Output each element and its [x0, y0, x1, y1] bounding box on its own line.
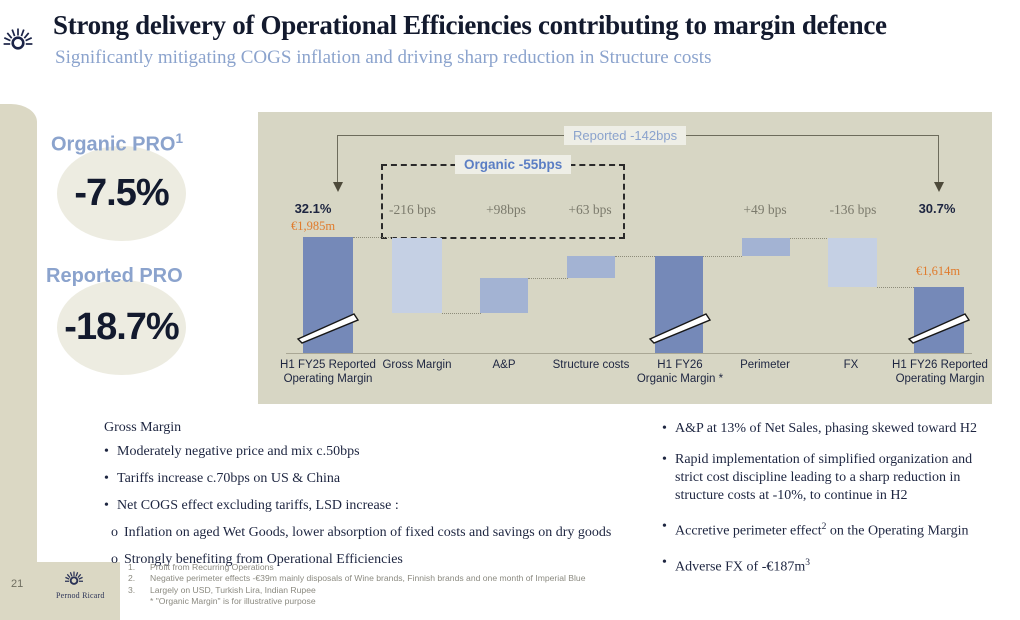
- footnote-number: 1.: [128, 562, 150, 573]
- bullet-left-item: oInflation on aged Wet Goods, lower abso…: [104, 524, 634, 542]
- footnote-text: Profit from Recurring Operations: [150, 562, 274, 573]
- bar-h1-fy26-organic: [655, 256, 703, 353]
- bar-h1-fy25-reported: [303, 237, 353, 353]
- connector-5: [703, 256, 742, 257]
- bullet-text: Net COGS effect excluding tariffs, LSD i…: [117, 497, 399, 515]
- bullet-marker: •: [104, 470, 117, 488]
- footnote-text: Largely on USD, Turkish Lira, Indian Rup…: [150, 585, 316, 596]
- value-label-h1fy25: 32.1%: [278, 201, 348, 216]
- footnote-number: [128, 596, 150, 607]
- bullet-marker: o: [111, 524, 124, 542]
- bar-perimeter: [742, 238, 790, 256]
- bullet-left-item: •Tariffs increase c.70bps on US & China: [104, 470, 634, 488]
- footnote-text: Negative perimeter effects -€39m mainly …: [150, 573, 585, 584]
- bullet-right-item: •Rapid implementation of simplified orga…: [662, 451, 1002, 505]
- page-subtitle: Significantly mitigating COGS inflation …: [55, 47, 955, 69]
- footnote-text: * "Organic Margin" is for illustrative p…: [150, 596, 316, 607]
- bar-h1-fy26-reported: [914, 287, 964, 353]
- connector-3: [528, 278, 568, 279]
- bullet-text: Accretive perimeter effect2 on the Opera…: [675, 518, 968, 541]
- reported-bracket-right-arrow-icon: [933, 182, 945, 194]
- value-label-perimeter: +49 bps: [729, 201, 801, 218]
- bullet-marker: •: [662, 451, 675, 505]
- category-label-gross-margin: Gross Margin: [367, 358, 467, 372]
- kpi-reported-value: -18.7%: [64, 306, 178, 349]
- page-title: Strong delivery of Operational Efficienc…: [53, 10, 953, 41]
- value-label-gross-margin: -216 bps: [389, 201, 445, 218]
- bullet-text: Moderately negative price and mix c.50bp…: [117, 443, 360, 461]
- bullet-marker: •: [662, 420, 675, 438]
- reported-bracket-left-arrow-icon: [332, 182, 344, 194]
- footnote-row: 2.Negative perimeter effects -€39m mainl…: [128, 573, 768, 584]
- amount-label-start: €1,985m: [278, 219, 348, 234]
- bar-anp: [480, 278, 528, 313]
- bullet-left-item: •Net COGS effect excluding tariffs, LSD …: [104, 497, 634, 515]
- footnote-number: 2.: [128, 573, 150, 584]
- footer-brand-name: Pernod Ricard: [56, 591, 105, 600]
- chart-baseline-axis: [286, 353, 972, 354]
- bullet-text: A&P at 13% of Net Sales, phasing skewed …: [675, 420, 977, 438]
- footnote-row: 1.Profit from Recurring Operations: [128, 562, 768, 573]
- bullet-right-item: •A&P at 13% of Net Sales, phasing skewed…: [662, 420, 1002, 438]
- footnote-row: 3.Largely on USD, Turkish Lira, Indian R…: [128, 585, 768, 596]
- value-label-fx: -136 bps: [815, 201, 891, 218]
- bullet-marker: •: [104, 443, 117, 461]
- pernod-ricard-sunburst-icon: [2, 26, 34, 58]
- organic-bracket-label: Organic -55bps: [455, 155, 571, 174]
- bullets-left-heading: Gross Margin: [104, 420, 634, 436]
- connector-7: [877, 287, 916, 288]
- bar-gross-margin: [392, 238, 442, 313]
- connector-6: [790, 238, 829, 239]
- reported-bracket-right-stem: [938, 135, 939, 188]
- left-accent-band: [0, 104, 37, 620]
- kpi-organic-label: Organic PRO1: [51, 131, 183, 157]
- waterfall-chart-panel: Reported -142bps Organic -55bps 32.1% €1…: [258, 112, 992, 404]
- amount-label-end: €1,614m: [903, 264, 973, 279]
- bar-structure-costs: [567, 256, 615, 278]
- page-number: 21: [11, 578, 23, 590]
- category-label-h1-fy26-organic: H1 FY26 Organic Margin *: [628, 358, 732, 386]
- kpi-reported-circle: -18.7%: [57, 280, 186, 375]
- value-label-h1fy26-reported: 30.7%: [906, 201, 968, 216]
- category-label-h1-fy26-reported: H1 FY26 Reported Operating Margin: [878, 358, 1002, 386]
- connector-2: [442, 313, 481, 314]
- bullet-text: Tariffs increase c.70bps on US & China: [117, 470, 340, 488]
- reported-bracket-left-stem: [337, 135, 338, 188]
- reported-bracket-label: Reported -142bps: [564, 126, 686, 145]
- bullet-text: Rapid implementation of simplified organ…: [675, 451, 1002, 505]
- bullet-marker: •: [662, 518, 675, 541]
- category-label-anp: A&P: [466, 358, 542, 372]
- category-label-fx: FX: [816, 358, 886, 372]
- footnote-number: 3.: [128, 585, 150, 596]
- footer-sunburst-icon: [64, 570, 84, 590]
- value-label-structure-costs: +63 bps: [554, 201, 626, 218]
- bullet-left-item: •Moderately negative price and mix c.50b…: [104, 443, 634, 461]
- bullet-marker: o: [111, 551, 124, 569]
- kpi-reported-label: Reported PRO: [46, 265, 183, 288]
- bullet-right-item: •Accretive perimeter effect2 on the Oper…: [662, 518, 1002, 541]
- bullets-left-column: Gross Margin •Moderately negative price …: [104, 420, 634, 578]
- bar-fx: [828, 238, 877, 287]
- kpi-organic-circle: -7.5%: [57, 146, 186, 241]
- bullet-marker: •: [104, 497, 117, 515]
- category-label-perimeter: Perimeter: [720, 358, 810, 372]
- connector-4: [615, 256, 655, 257]
- bullet-text: Inflation on aged Wet Goods, lower absor…: [124, 524, 611, 542]
- footnote-row: * "Organic Margin" is for illustrative p…: [128, 596, 768, 607]
- connector-1: [353, 237, 393, 238]
- kpi-organic-value: -7.5%: [74, 172, 168, 215]
- value-label-anp: +98bps: [470, 201, 542, 218]
- footnotes: 1.Profit from Recurring Operations2.Nega…: [128, 562, 768, 608]
